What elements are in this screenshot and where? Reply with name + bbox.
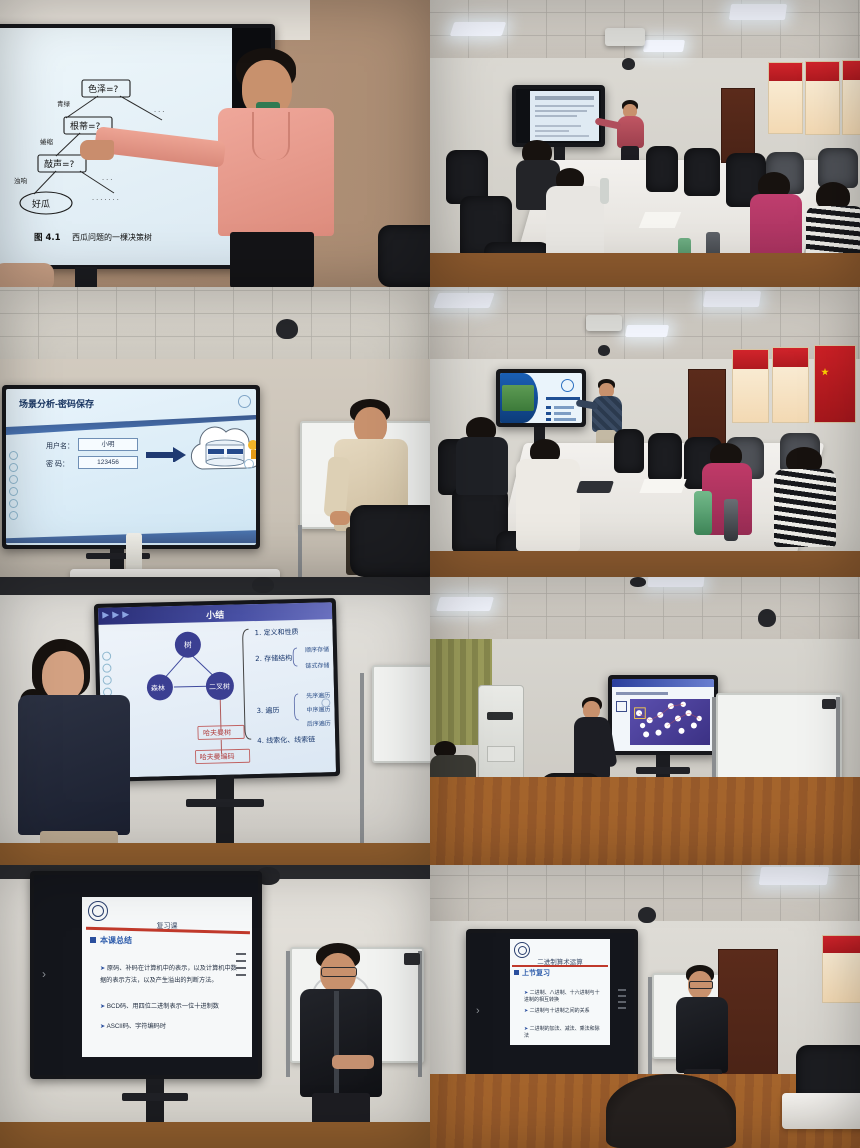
- cup: [600, 178, 609, 204]
- svg-text:西瓜问题的一棵决策树: 西瓜问题的一棵决策树: [72, 232, 152, 242]
- svg-text:哈夫曼编码: 哈夫曼编码: [200, 752, 235, 762]
- presenter-person: [292, 943, 390, 1148]
- whiteboard-clip: [404, 953, 420, 965]
- slide-progress-dots: [9, 451, 18, 520]
- slide-review-bullets: 二进制算术运算 上节复习 ➤ 二进制、八进制、十六进制与十进制的相互转换 ➤ 二…: [510, 939, 610, 1045]
- hands: [332, 1055, 374, 1069]
- slide-bullet-2: ➤ 二进制与十进制之间的关系: [524, 1007, 604, 1014]
- svg-text:2. 存储结构: 2. 存储结构: [255, 653, 292, 663]
- wall-poster: [822, 935, 860, 1003]
- svg-text:二叉树: 二叉树: [209, 682, 230, 692]
- svg-text:. . .: . . .: [102, 174, 112, 182]
- display-stand: [75, 267, 97, 287]
- svg-text:浊响: 浊响: [14, 176, 28, 185]
- display-screen: [612, 679, 714, 751]
- glasses-icon: [689, 981, 713, 989]
- svg-text:好瓜: 好瓜: [32, 198, 50, 210]
- slide-subtitle: [616, 692, 668, 695]
- photo-panel-row3-right[interactable]: [430, 577, 860, 865]
- password-input[interactable]: 123456: [78, 456, 138, 469]
- section-bullet-icon: [90, 937, 96, 943]
- photo-panel-row1-left[interactable]: 色泽=? 根蒂=? 敲声=? 好瓜 青绿 蜷缩 浊响 . . . . . . .…: [0, 0, 430, 287]
- photo-panel-row2-right[interactable]: [430, 287, 860, 577]
- slide-accent-rule: [512, 965, 608, 967]
- door: [721, 88, 755, 163]
- ceiling-sensor: [630, 577, 646, 587]
- zipper: [334, 991, 339, 1095]
- photo-panel-row4-left[interactable]: 复习课 本课总结 ➤ 原码、补码在计算机中的表示，以及计算机中数据的表示方法，以…: [0, 865, 430, 1148]
- attendee-person: [546, 168, 606, 260]
- attendee-person: [774, 447, 836, 549]
- svg-text:. . . . . . .: . . . . . . .: [92, 194, 119, 202]
- display-panel: [512, 85, 605, 147]
- display-panel: 二进制算术运算 上节复习 ➤ 二进制、八进制、十六进制与十进制的相互转换 ➤ 二…: [466, 929, 638, 1079]
- hand: [330, 511, 350, 525]
- svg-text:哈夫曼树: 哈夫曼树: [203, 728, 231, 738]
- foreground-hand: [0, 263, 54, 287]
- photo-panel-row3-left[interactable]: 小结: [0, 577, 430, 865]
- slide-marker-icon: [616, 701, 627, 712]
- presenter-person: [200, 48, 350, 287]
- username-input[interactable]: 小明: [78, 438, 138, 451]
- ceiling-light: [450, 22, 507, 36]
- hand: [80, 140, 114, 160]
- svg-text:树: 树: [184, 640, 192, 650]
- torso: [617, 116, 644, 148]
- display-panel: 场景分析-密码保存 用户名： 小明 密 码： 123456: [2, 385, 260, 549]
- svg-text:森林: 森林: [151, 683, 165, 692]
- wall-poster: [842, 60, 860, 135]
- paper-sheet: [639, 212, 681, 228]
- screen-side-controls[interactable]: [236, 953, 246, 976]
- ceiling-light: [759, 867, 830, 885]
- svg-text:. . .: . . .: [154, 106, 164, 114]
- ceiling-light: [625, 325, 669, 337]
- foreground-person-head: [606, 1074, 736, 1148]
- slide-summary-bullets: 复习课 本课总结 ➤ 原码、补码在计算机中的表示，以及计算机中数据的表示方法，以…: [82, 897, 252, 1057]
- svg-text:3. 遍历: 3. 遍历: [256, 705, 279, 715]
- security-camera: [276, 319, 298, 339]
- ceiling-light: [647, 577, 704, 587]
- slide-bullet-1: ➤ 原码、补码在计算机中的表示，以及计算机中数据的表示方法，以及产生溢出的判断方…: [100, 963, 242, 987]
- photo-panel-row2-left[interactable]: 场景分析-密码保存 用户名： 小明 密 码： 123456: [0, 287, 430, 577]
- slide-header-bar: [612, 679, 714, 687]
- office-chair: [350, 505, 430, 577]
- svg-text:后序遍历: 后序遍历: [307, 719, 331, 728]
- section-bullet-icon: [514, 970, 519, 975]
- projector: [586, 315, 622, 331]
- slide-bullet-2: ➤ BCD码、用四位二进制表示一位十进制数: [100, 1001, 242, 1013]
- slide-logo-icon: [238, 395, 251, 408]
- glasses-icon: [321, 967, 357, 977]
- jacket-torso: [18, 695, 130, 835]
- whiteboard-clip: [822, 699, 836, 709]
- slide-section-title: 本课总结: [100, 935, 132, 946]
- wall-poster-flag: [814, 345, 856, 423]
- svg-text:图 4.1: 图 4.1: [34, 233, 61, 243]
- display-panel: [608, 675, 718, 755]
- security-camera: [598, 345, 610, 356]
- wall-poster: [768, 62, 803, 134]
- slide-logo-icon: [88, 901, 108, 921]
- svg-text:链式存储: 链式存储: [305, 661, 329, 670]
- svg-text:敲声=?: 敲声=?: [44, 158, 75, 170]
- security-camera: [758, 609, 776, 627]
- chevron-right-icon[interactable]: ›: [476, 1005, 480, 1017]
- display-screen: 复习课 本课总结 ➤ 原码、补码在计算机中的表示，以及计算机中数据的表示方法，以…: [34, 875, 258, 1075]
- thermos: [694, 491, 712, 535]
- foreground-chair: [378, 225, 430, 287]
- photo-collage: 色泽=? 根蒂=? 敲声=? 好瓜 青绿 蜷缩 浊响 . . . . . . .…: [0, 0, 860, 1148]
- projector: [605, 28, 645, 46]
- slide-password-storage: 场景分析-密码保存 用户名： 小明 密 码： 123456: [6, 389, 256, 545]
- slide-bullet-3: ➤ 二进制的加法、减法、乘法和除法: [524, 1025, 604, 1039]
- tracksuit-torso: [676, 997, 728, 1073]
- svg-text:4. 线索化、线索链: 4. 线索化、线索链: [257, 735, 315, 745]
- ceiling-light: [643, 40, 685, 52]
- legs: [230, 232, 314, 287]
- photo-panel-row1-right[interactable]: [430, 0, 860, 287]
- jacket-torso: [300, 989, 382, 1097]
- cloud-database-icon: [182, 417, 256, 489]
- security-camera: [622, 58, 635, 70]
- display-screen: 二进制算术运算 上节复习 ➤ 二进制、八进制、十六进制与十进制的相互转换 ➤ 二…: [470, 933, 634, 1075]
- display-screen: [500, 373, 582, 423]
- wall-poster: [732, 349, 769, 423]
- screen-side-controls[interactable]: [618, 989, 626, 1009]
- security-camera: [638, 907, 656, 923]
- thermos: [724, 499, 738, 541]
- display-screen: [516, 89, 601, 143]
- wall-poster: [772, 347, 809, 423]
- ceiling-light: [703, 291, 761, 307]
- slide-logo-icon: [561, 379, 574, 392]
- svg-text:蜷缩: 蜷缩: [40, 137, 54, 146]
- username-label: 用户名：: [46, 441, 74, 451]
- slide-bullet-3: ➤ ASCII码、字符编码时: [100, 1021, 242, 1033]
- slide-title-page: [500, 373, 582, 423]
- slide-bullet-1: ➤ 二进制、八进制、十六进制与十进制的相互转换: [524, 989, 604, 1003]
- presenter-person: [613, 100, 649, 168]
- presenter-person: [6, 639, 138, 865]
- slide-left-banner: [500, 373, 538, 423]
- svg-text:色泽=?: 色泽=?: [88, 83, 119, 95]
- slide-section-title: 上节复习: [522, 968, 550, 978]
- svg-text:顺序存储: 顺序存储: [305, 645, 329, 654]
- security-camera: [252, 577, 274, 593]
- display-screen: 场景分析-密码保存 用户名： 小明 密 码： 123456: [6, 389, 256, 545]
- slide-text-document: [530, 91, 599, 141]
- slide-title: 场景分析-密码保存: [19, 397, 94, 410]
- graph-nodes-svg: [630, 699, 710, 745]
- slide-next-icon[interactable]: [244, 459, 254, 469]
- slide-node-graph: [612, 679, 714, 751]
- photo-panel-row4-right[interactable]: 二进制算术运算 上节复习 ➤ 二进制、八进制、十六进制与十进制的相互转换 ➤ 二…: [430, 865, 860, 1148]
- svg-text:1. 定义和性质: 1. 定义和性质: [254, 627, 298, 637]
- whiteboard: [372, 665, 430, 763]
- notebook: [576, 481, 614, 493]
- svg-text:青绿: 青绿: [57, 99, 71, 108]
- ceiling-light: [729, 4, 787, 20]
- attendee-person: [456, 417, 510, 495]
- chevron-right-icon[interactable]: ›: [42, 967, 46, 981]
- password-label: 密 码：: [46, 459, 69, 469]
- attendee-person: [516, 439, 582, 551]
- wall-poster: [805, 61, 840, 135]
- display-panel: 复习课 本课总结 ➤ 原码、补码在计算机中的表示，以及计算机中数据的表示方法，以…: [30, 871, 262, 1079]
- ceiling-light: [436, 597, 494, 611]
- ceiling-light: [433, 293, 494, 308]
- paper-sheet: [639, 479, 686, 493]
- hood-strings: [252, 112, 290, 160]
- graph-canvas: [630, 699, 710, 745]
